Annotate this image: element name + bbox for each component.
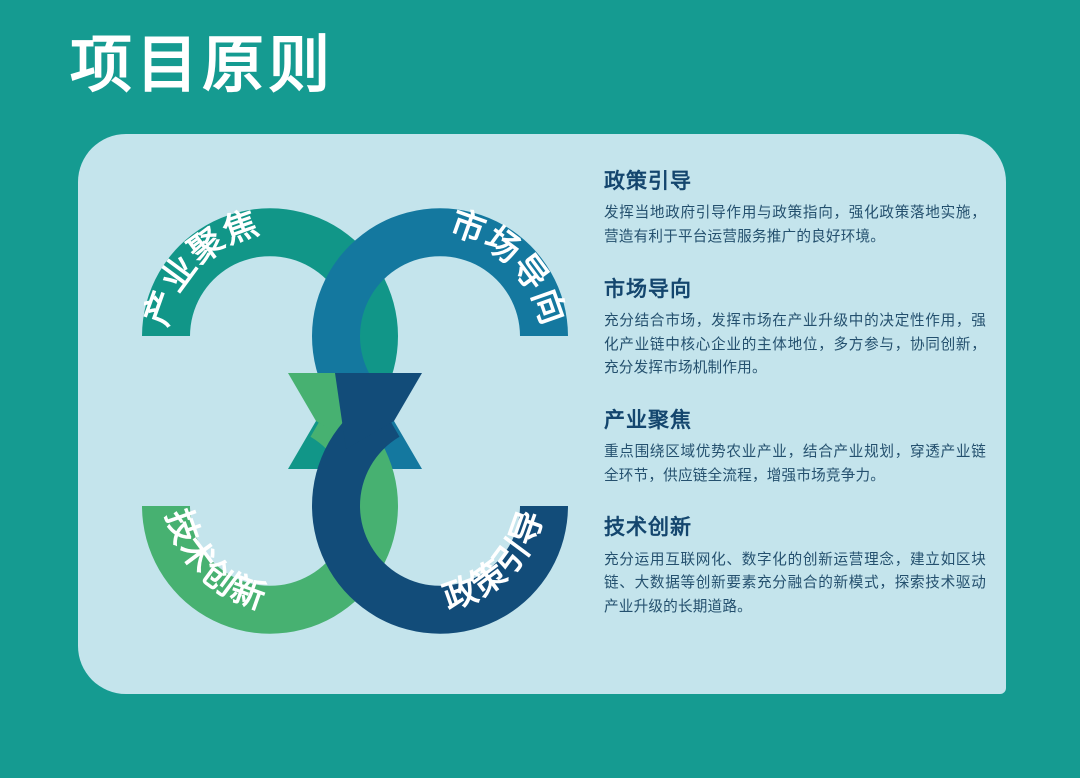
principle-description: 发挥当地政府引导作用与政策指向，强化政策落地实施，营造有利于平台运营服务推广的良… <box>604 202 986 249</box>
principle-title: 技术创新 <box>604 514 986 541</box>
principle-title: 政策引导 <box>604 168 986 195</box>
principle-policy-guidance: 政策引导 发挥当地政府引导作用与政策指向，强化政策落地实施，营造有利于平台运营服… <box>604 168 986 250</box>
principle-title: 产业聚焦 <box>604 407 986 434</box>
cycle-diagram: 产业聚焦 市场导向 技术创新 <box>120 186 590 656</box>
principle-description: 重点围绕区域优势农业产业，结合产业规划，穿透产业链全环节，供应链全流程，增强市场… <box>604 441 986 488</box>
cycle-label-industry-focus: 产业聚焦 <box>138 204 265 331</box>
principle-tech-innovation: 技术创新 充分运用互联网化、数字化的创新运营理念，建立如区块链、大数据等创新要素… <box>604 514 986 619</box>
cycle-segment-policy-guidance[interactable]: 政策引导 <box>312 373 568 634</box>
principle-market-oriented: 市场导向 充分结合市场，发挥市场在产业升级中的决定性作用，强化产业链中核心企业的… <box>604 276 986 381</box>
page-title: 项目原则 <box>70 30 334 101</box>
principle-industry-focus: 产业聚焦 重点围绕区域优势农业产业，结合产业规划，穿透产业链全环节，供应链全流程… <box>604 407 986 489</box>
principles-list: 政策引导 发挥当地政府引导作用与政策指向，强化政策落地实施，营造有利于平台运营服… <box>604 168 986 620</box>
principle-description: 充分结合市场，发挥市场在产业升级中的决定性作用，强化产业链中核心企业的主体地位，… <box>604 310 986 381</box>
content-card: 产业聚焦 市场导向 技术创新 <box>78 134 1006 694</box>
principle-description: 充分运用互联网化、数字化的创新运营理念，建立如区块链、大数据等创新要素充分融合的… <box>604 549 986 620</box>
cycle-label-market-oriented: 市场导向 <box>446 203 573 331</box>
principle-title: 市场导向 <box>604 276 986 303</box>
